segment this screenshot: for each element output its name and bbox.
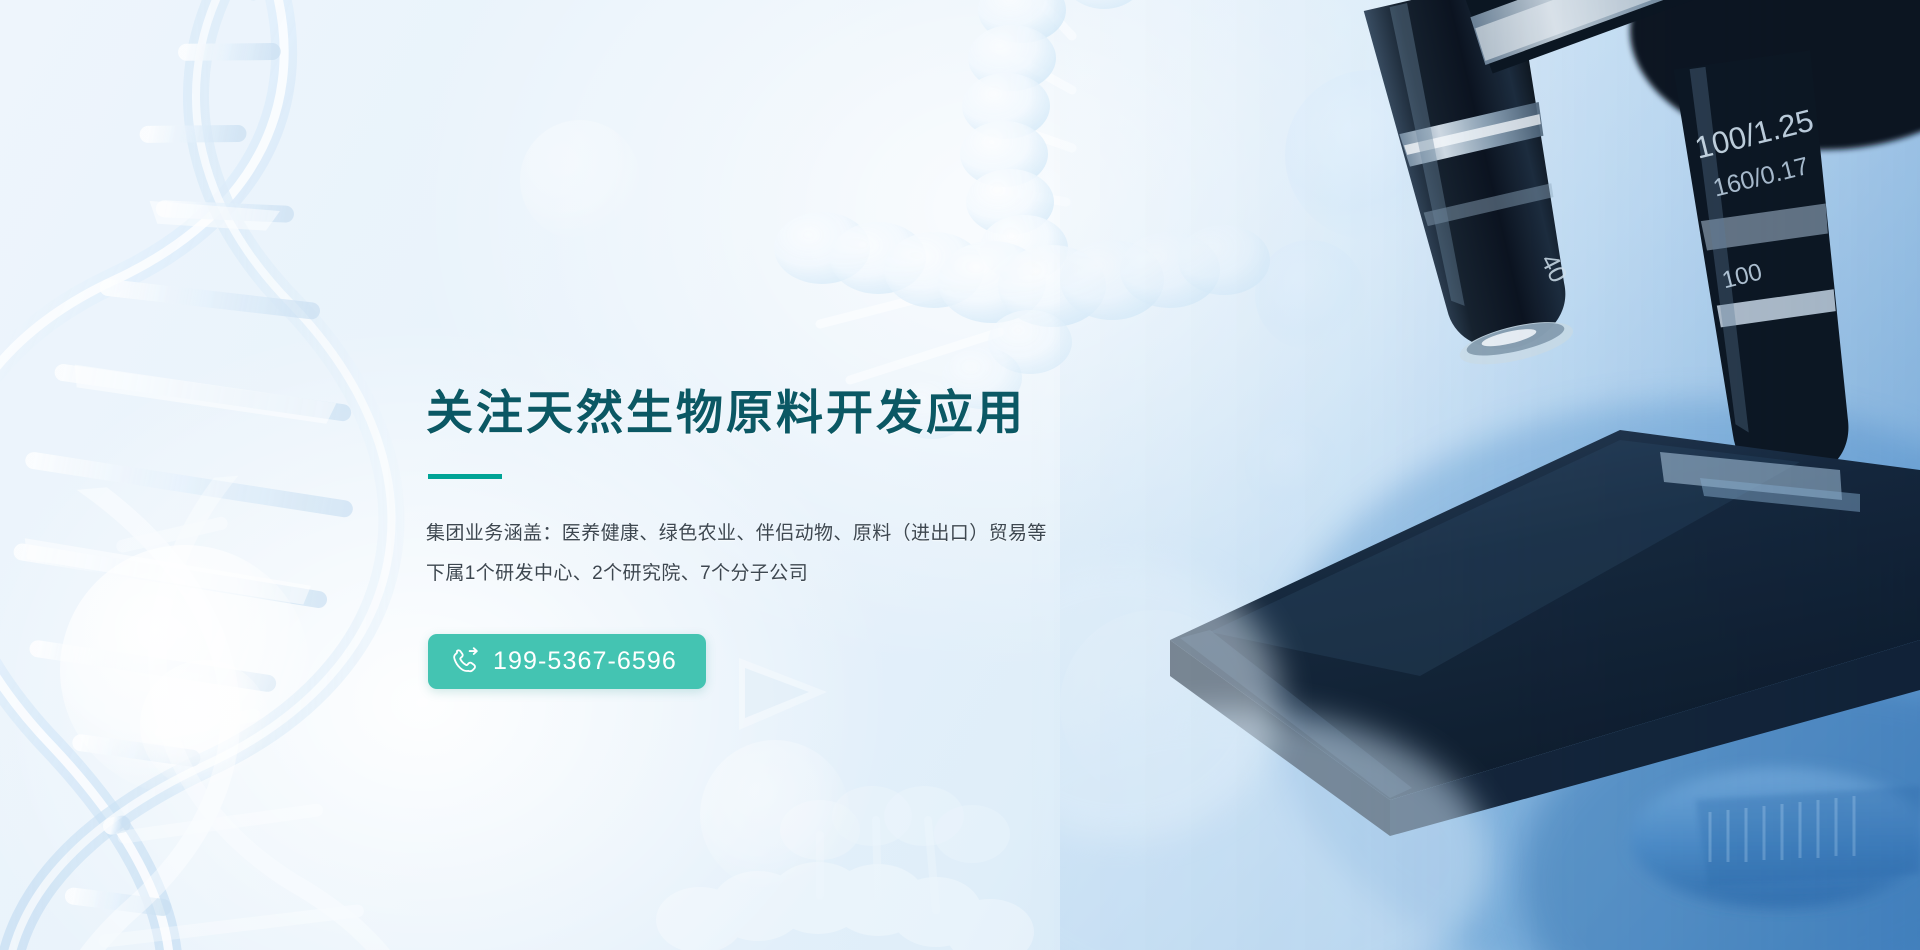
bokeh-light [60,545,310,795]
bokeh-light [520,120,640,240]
bokeh-light [1245,420,1340,515]
phone-forward-icon [451,647,480,676]
bokeh-light [700,740,850,890]
bokeh-light [140,660,270,790]
svg-text:40: 40 [1535,250,1573,287]
hero-description: 集团业务涵盖：医养健康、绿色农业、伴侣动物、原料（进出口）贸易等 下属1个研发中… [426,514,1246,594]
svg-text:100/1.25: 100/1.25 [1691,102,1817,165]
title-underline-rule [428,474,502,479]
phone-cta-button[interactable]: 199-5367-6596 [428,634,706,689]
svg-text:160/0.17: 160/0.17 [1710,152,1811,203]
svg-text:100: 100 [1719,258,1764,294]
description-line-1: 集团业务涵盖：医养健康、绿色农业、伴侣动物、原料（进出口）贸易等 [426,514,1246,554]
bokeh-light [1255,240,1365,350]
phone-number-label: 199-5367-6596 [493,649,677,674]
hero-banner: 40 100/1.25 160/0.17 100 [0,0,1920,950]
description-line-2: 下属1个研发中心、2个研究院、7个分子公司 [426,554,1246,594]
page-title: 关注天然生物原料开发应用 [426,386,1246,441]
hero-content: 关注天然生物原料开发应用 集团业务涵盖：医养健康、绿色农业、伴侣动物、原料（进出… [426,386,1246,689]
bokeh-light [1285,70,1455,240]
